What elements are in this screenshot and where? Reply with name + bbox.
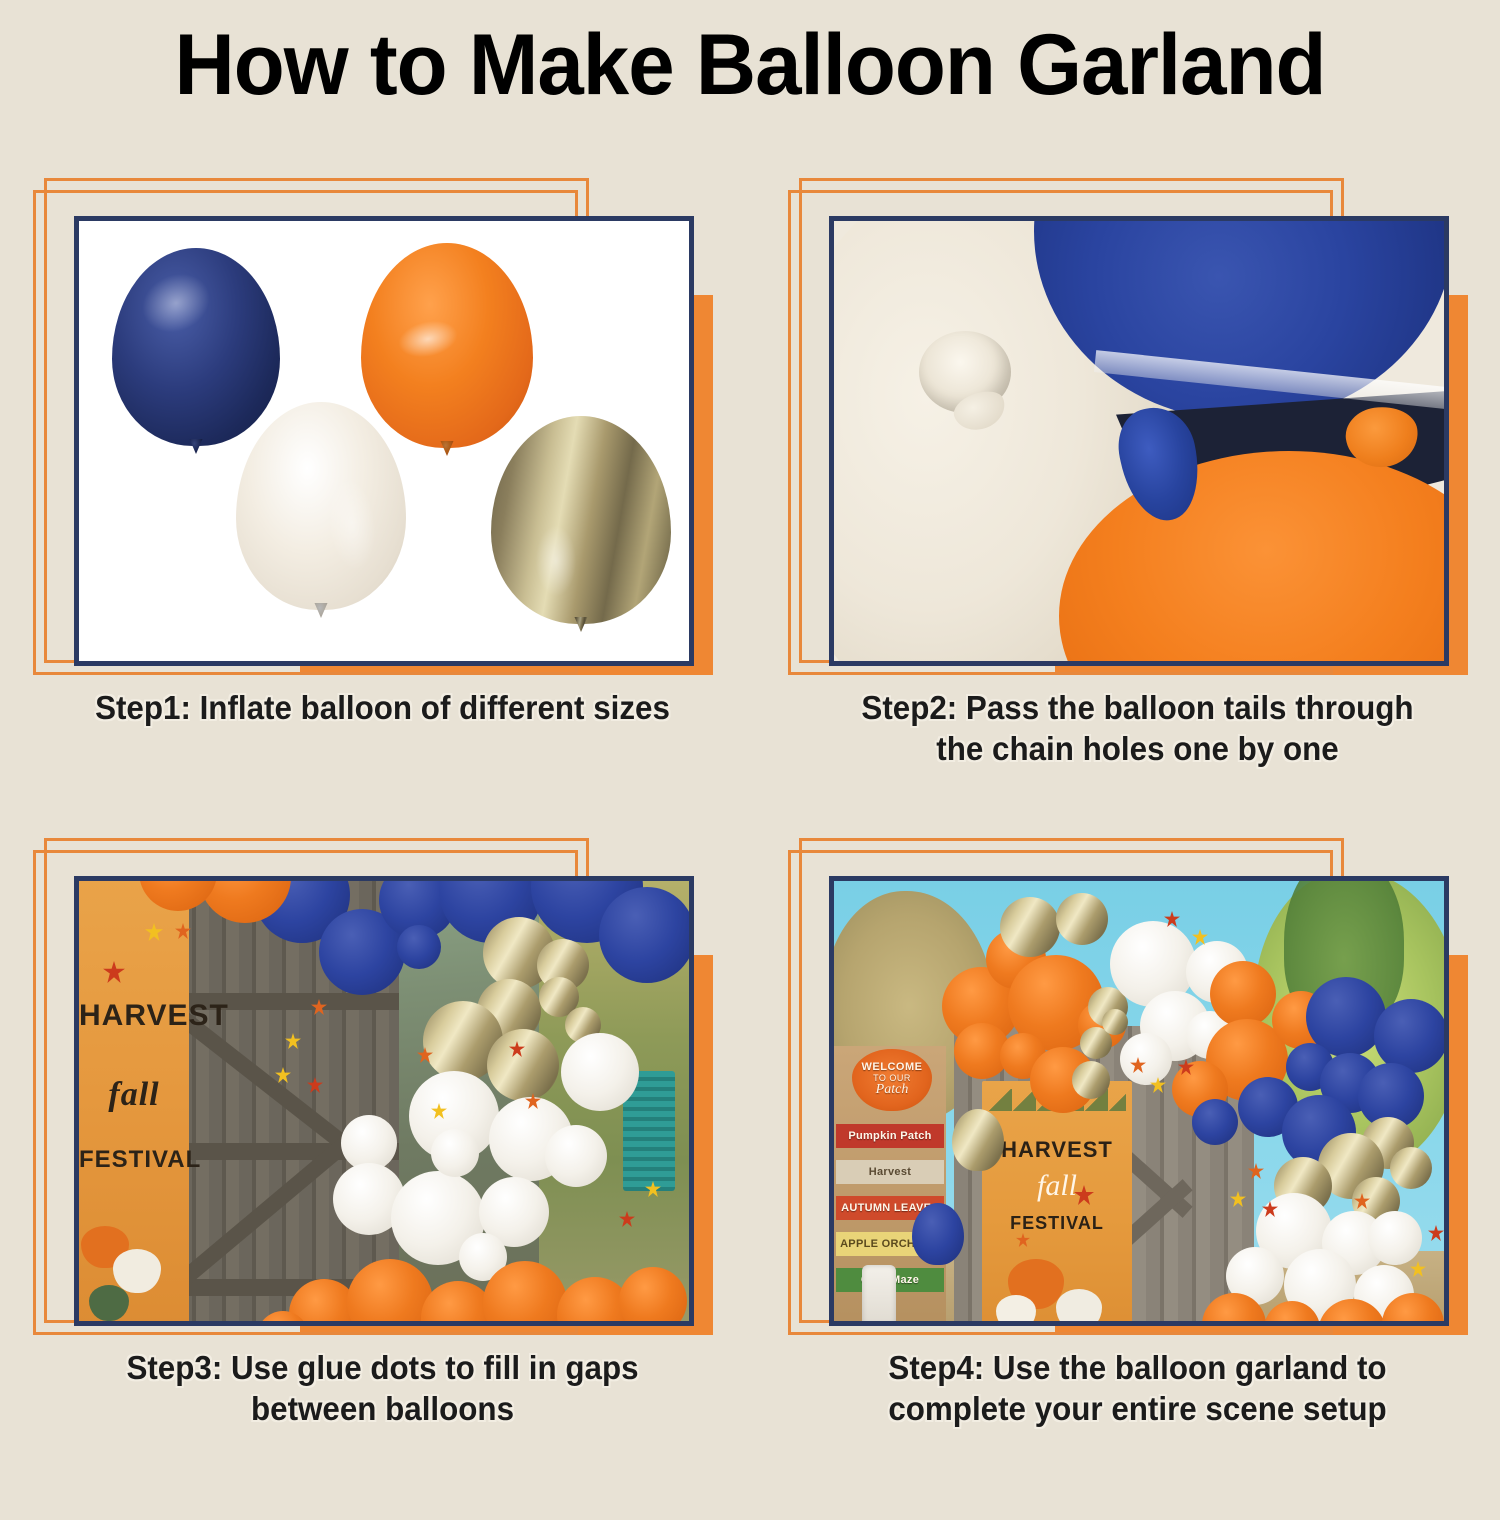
banner-line-harvest: HARVEST bbox=[79, 999, 189, 1033]
garland-balloon bbox=[545, 1125, 607, 1187]
sign-line-festival: FESTIVAL bbox=[982, 1213, 1132, 1234]
garland-balloon bbox=[1374, 999, 1444, 1073]
step-2-photo bbox=[829, 216, 1449, 666]
step-2-caption: Step2: Pass the balloon tails through th… bbox=[798, 688, 1477, 770]
banner-leaf-yellow bbox=[145, 923, 163, 941]
banner-pumpkin-green bbox=[89, 1285, 129, 1321]
step-card-1: Step1: Inflate balloon of different size… bbox=[25, 160, 740, 860]
banner-line-festival: FESTIVAL bbox=[79, 1146, 189, 1174]
garland-balloon bbox=[487, 1029, 559, 1101]
navy-blue-balloon bbox=[112, 248, 280, 446]
welcome-line-3: Patch bbox=[876, 1083, 909, 1098]
step-card-2: Step2: Pass the balloon tails through th… bbox=[780, 160, 1495, 860]
banner-leaf-red bbox=[103, 961, 125, 983]
garland-balloon bbox=[397, 925, 441, 969]
sign-pumpkin-cream bbox=[1056, 1289, 1102, 1321]
step-4-photo: HARVEST fall FESTIVAL Pumpkin Patch Harv… bbox=[829, 876, 1449, 1326]
step-3-caption: Step3: Use glue dots to fill in gaps bet… bbox=[43, 1348, 722, 1430]
step-3-photo: HARVEST fall FESTIVAL bbox=[74, 876, 694, 1326]
garland-balloon bbox=[1056, 893, 1108, 945]
banner-pumpkin-white bbox=[113, 1249, 161, 1293]
signpost-row: Harvest bbox=[836, 1160, 944, 1184]
lantern bbox=[862, 1265, 896, 1321]
garland-balloon bbox=[431, 1129, 479, 1177]
garland-balloon bbox=[1120, 1033, 1172, 1085]
sign-line-harvest: HARVEST bbox=[982, 1137, 1132, 1163]
garland-balloon bbox=[1000, 897, 1060, 957]
page-title: How to Make Balloon Garland bbox=[23, 22, 1478, 110]
signpost-row: Pumpkin Patch bbox=[836, 1124, 944, 1148]
sign-leaf-orange bbox=[1016, 1233, 1030, 1247]
floating-navy-balloon bbox=[912, 1203, 964, 1265]
banner-line-fall: fall bbox=[79, 1076, 189, 1114]
garland-balloon bbox=[1102, 1009, 1128, 1035]
welcome-to-our-patch-sign: WELCOME TO OUR Patch bbox=[852, 1049, 932, 1111]
harvest-banner: HARVEST fall FESTIVAL bbox=[79, 881, 189, 1321]
chrome-gold-balloon bbox=[491, 416, 671, 624]
orange-balloon bbox=[361, 243, 533, 448]
harvest-fall-festival-sign: HARVEST fall FESTIVAL bbox=[982, 1081, 1132, 1321]
garland-balloon bbox=[1192, 1099, 1238, 1145]
cream-ivory-balloon bbox=[236, 402, 406, 610]
step-1-photo bbox=[74, 216, 694, 666]
step-card-4: HARVEST fall FESTIVAL Pumpkin Patch Harv… bbox=[780, 820, 1495, 1520]
step-1-caption: Step1: Inflate balloon of different size… bbox=[43, 688, 722, 729]
floating-gold-balloon bbox=[952, 1109, 1004, 1171]
sign-pumpkin-white bbox=[996, 1295, 1036, 1321]
step-4-caption: Step4: Use the balloon garland to comple… bbox=[798, 1348, 1477, 1430]
garland-balloon bbox=[561, 1033, 639, 1111]
garland-balloon bbox=[1210, 961, 1276, 1027]
garland-balloon bbox=[1368, 1211, 1422, 1265]
welcome-line-1: WELCOME bbox=[862, 1062, 923, 1074]
sign-line-fall: fall bbox=[982, 1169, 1132, 1203]
garland-balloon bbox=[599, 887, 689, 983]
step-card-3: HARVEST fall FESTIVAL bbox=[25, 820, 740, 1520]
garland-balloon bbox=[1072, 1061, 1110, 1099]
garland-balloon bbox=[1390, 1147, 1432, 1189]
